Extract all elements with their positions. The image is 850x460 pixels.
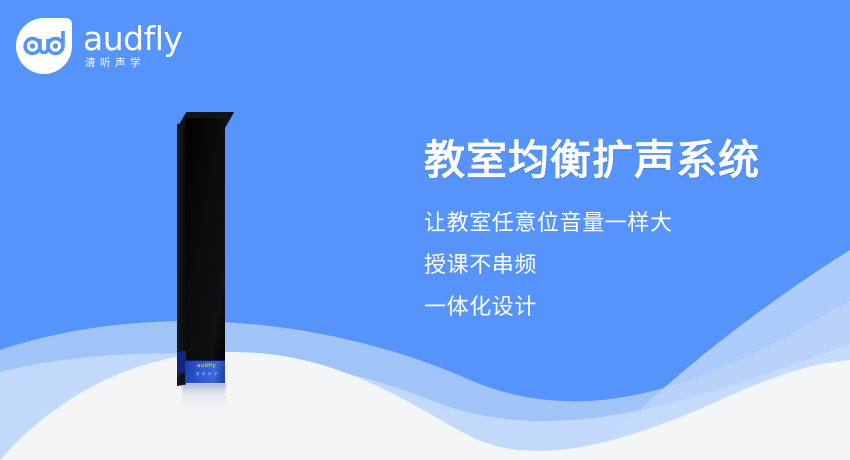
wordmark-subtitle: 清听声学: [85, 57, 182, 70]
copy-block: 教室均衡扩声系统 让教室任意位音量一样大 授课不串频 一体化设计: [424, 134, 824, 329]
logo-letters-icon: [16, 18, 72, 74]
bullet-list: 让教室任意位音量一样大 授课不串频 一体化设计: [424, 203, 824, 329]
headline: 教室均衡扩声系统: [424, 134, 824, 186]
speaker-base-logo: audfly: [197, 364, 216, 369]
column-speaker-image: audfly 清听声学: [170, 112, 232, 402]
wordmark-text: audfly: [83, 22, 182, 55]
bullet-item: 一体化设计: [424, 287, 824, 329]
audfly-circle-logo-icon: [16, 18, 72, 74]
speaker-front-grille: [185, 118, 225, 378]
speaker-base: audfly 清听声学: [185, 360, 225, 383]
bullet-item: 让教室任意位音量一样大: [424, 203, 824, 245]
brand-logo[interactable]: audfly 清听声学: [16, 16, 182, 76]
promo-banner: audfly 清听声学 audfly 清听声学 教室均衡扩声系统 让教室任意位音…: [0, 0, 850, 460]
speaker-base-subtitle: 清听声学: [196, 372, 220, 377]
bullet-item: 授课不串频: [424, 245, 824, 287]
brand-wordmark: audfly 清听声学: [83, 18, 182, 74]
speaker-reflection: [182, 383, 226, 409]
